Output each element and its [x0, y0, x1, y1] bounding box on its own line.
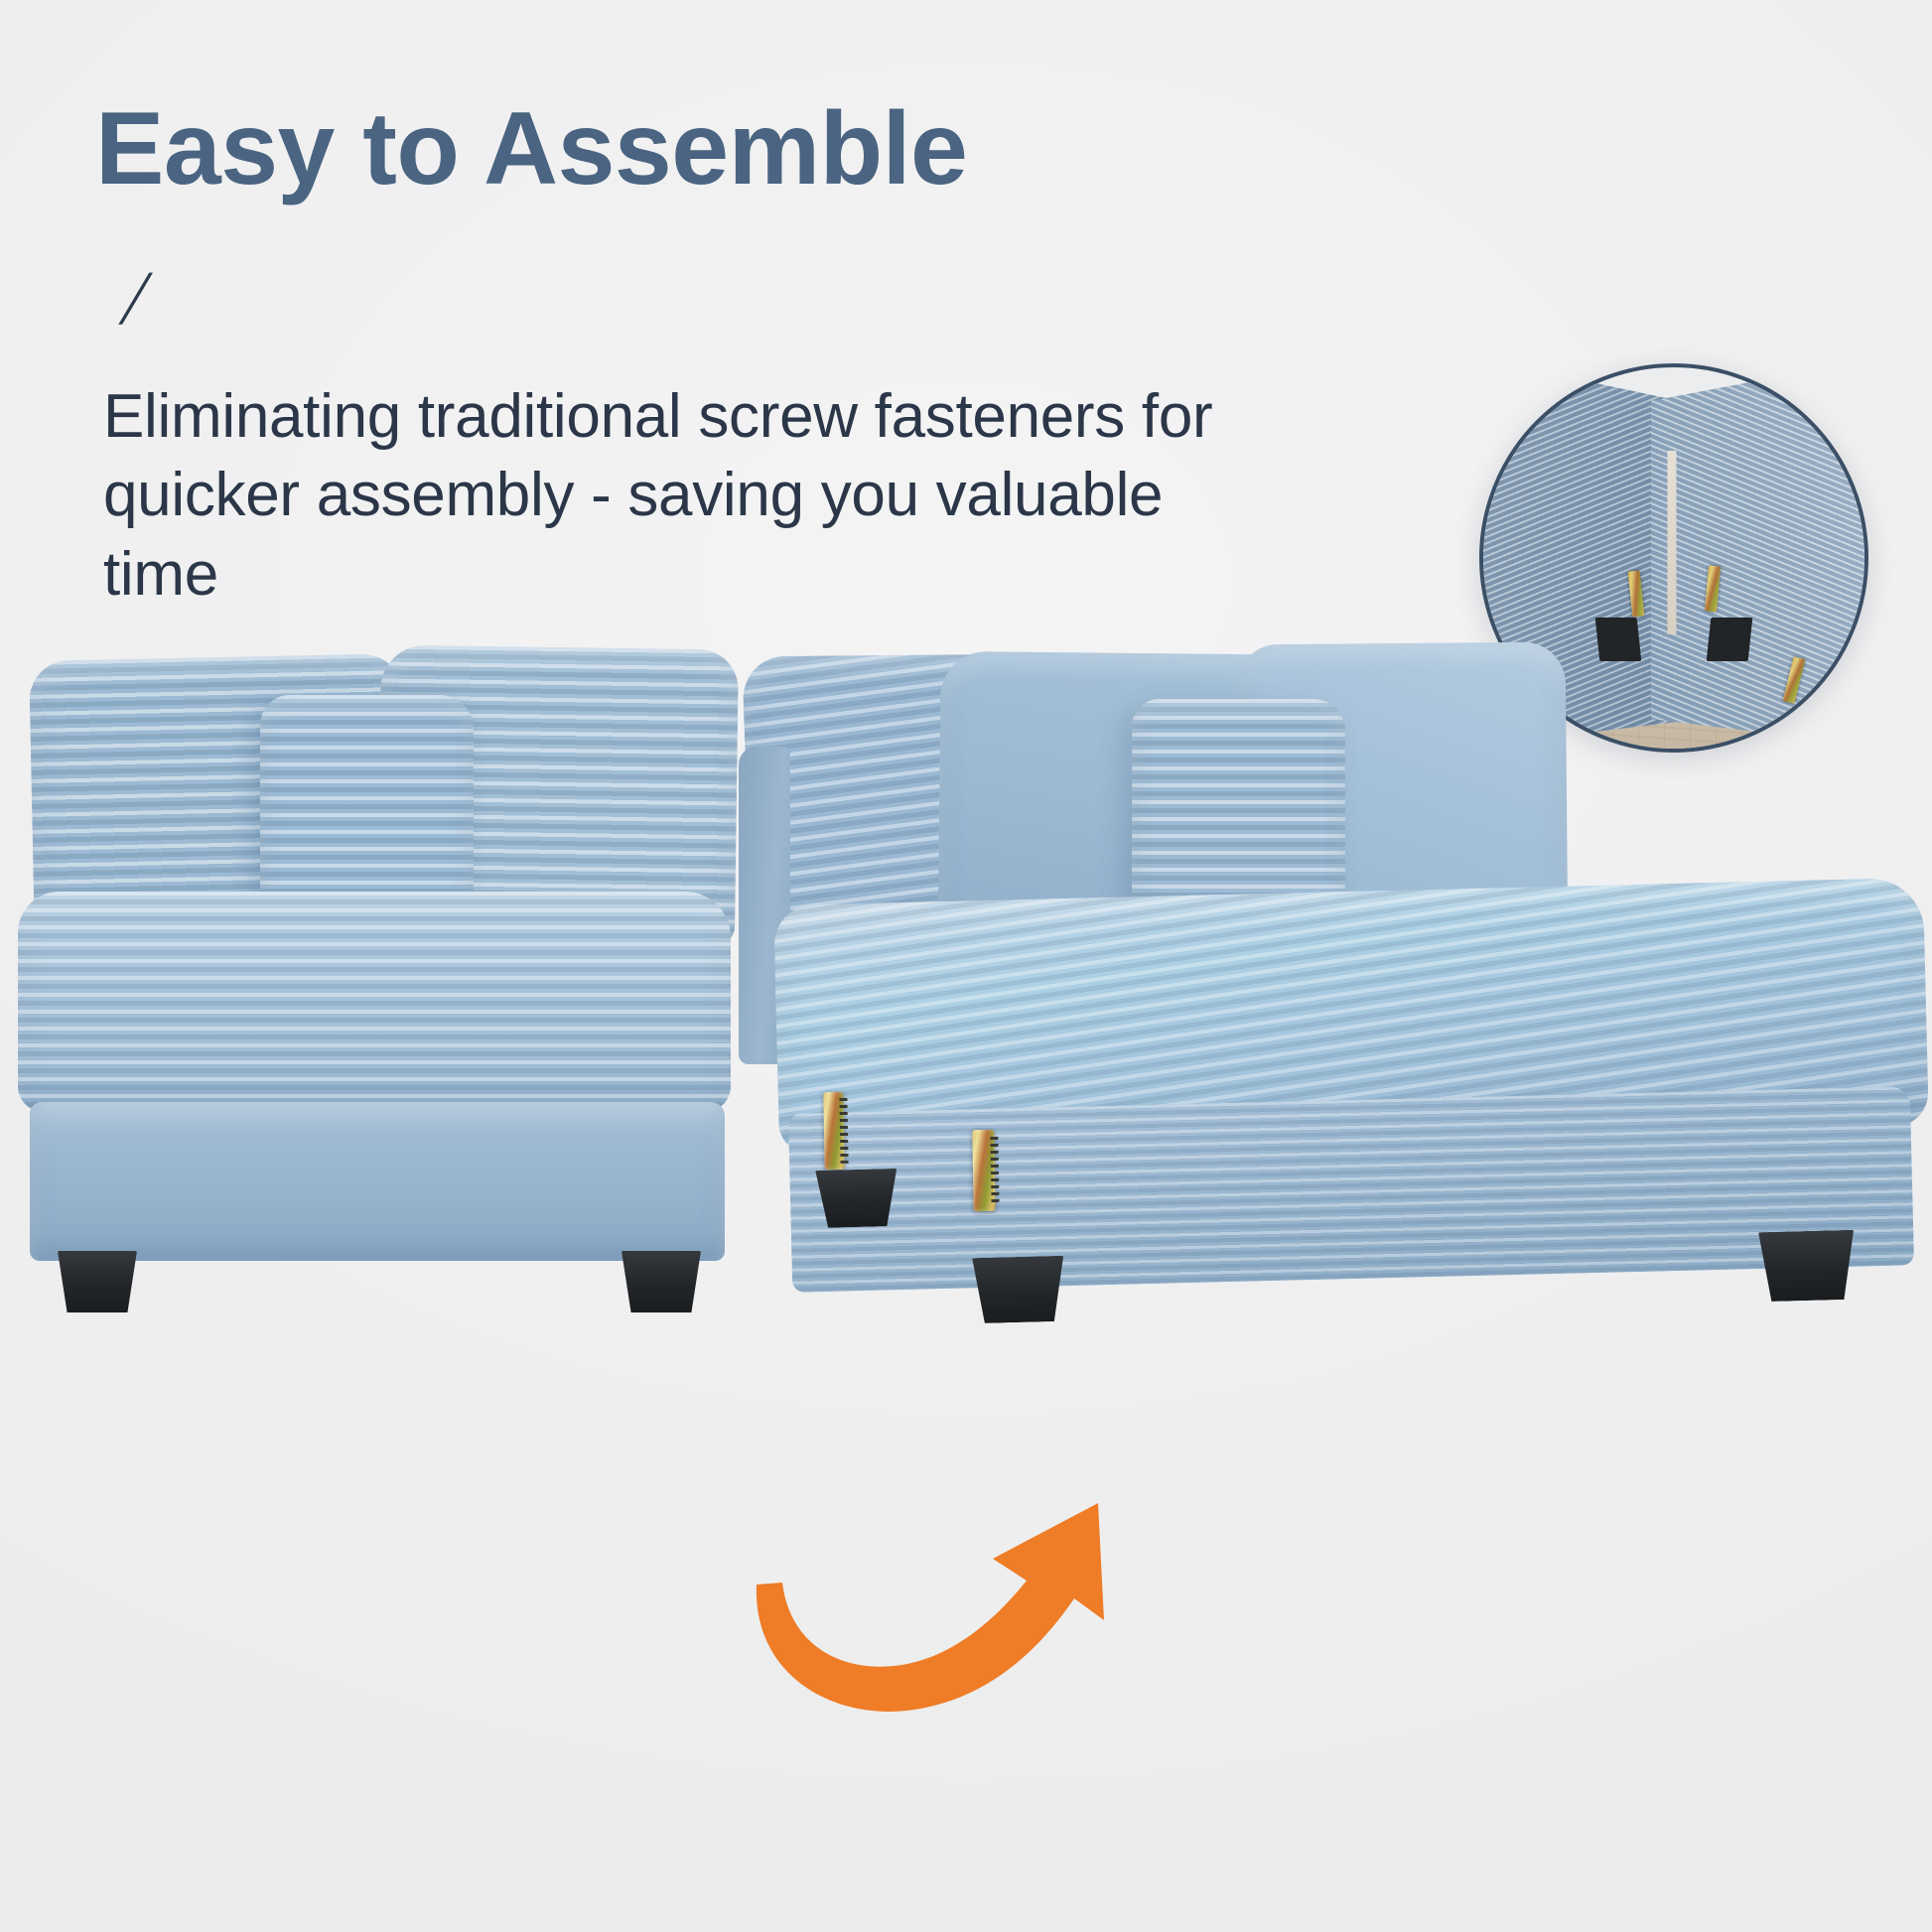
seat-cushion-texture [18, 892, 731, 1112]
slash-accent-mark: / [114, 253, 158, 343]
pointer-arrow [695, 1459, 1132, 1787]
feature-description-line-1: Eliminating traditional screw fasteners … [103, 377, 1275, 456]
feature-description: Eliminating traditional screw fasteners … [103, 377, 1275, 614]
sofa-leg [972, 1256, 1065, 1323]
module-base [30, 1102, 725, 1261]
sofa-leg [1758, 1230, 1856, 1302]
arrow-shape [757, 1503, 1104, 1712]
feature-description-line-2: quicker assembly - saving you valuable t… [103, 456, 1275, 614]
module-base-texture [788, 1086, 1914, 1293]
module-seam [1668, 451, 1677, 633]
sofa-module-left[interactable] [10, 635, 764, 1588]
sofa-leg [815, 1169, 897, 1228]
connector-bracket-icon [823, 1092, 844, 1170]
connector-bracket-icon [972, 1130, 995, 1211]
product-feature-banner: Easy to Assemble / Eliminating tradition… [0, 0, 1932, 1932]
sofa-leg [621, 1251, 701, 1312]
page-title: Easy to Assemble [95, 95, 967, 204]
throw-pillow [260, 695, 474, 923]
sofa-leg [58, 1251, 137, 1312]
